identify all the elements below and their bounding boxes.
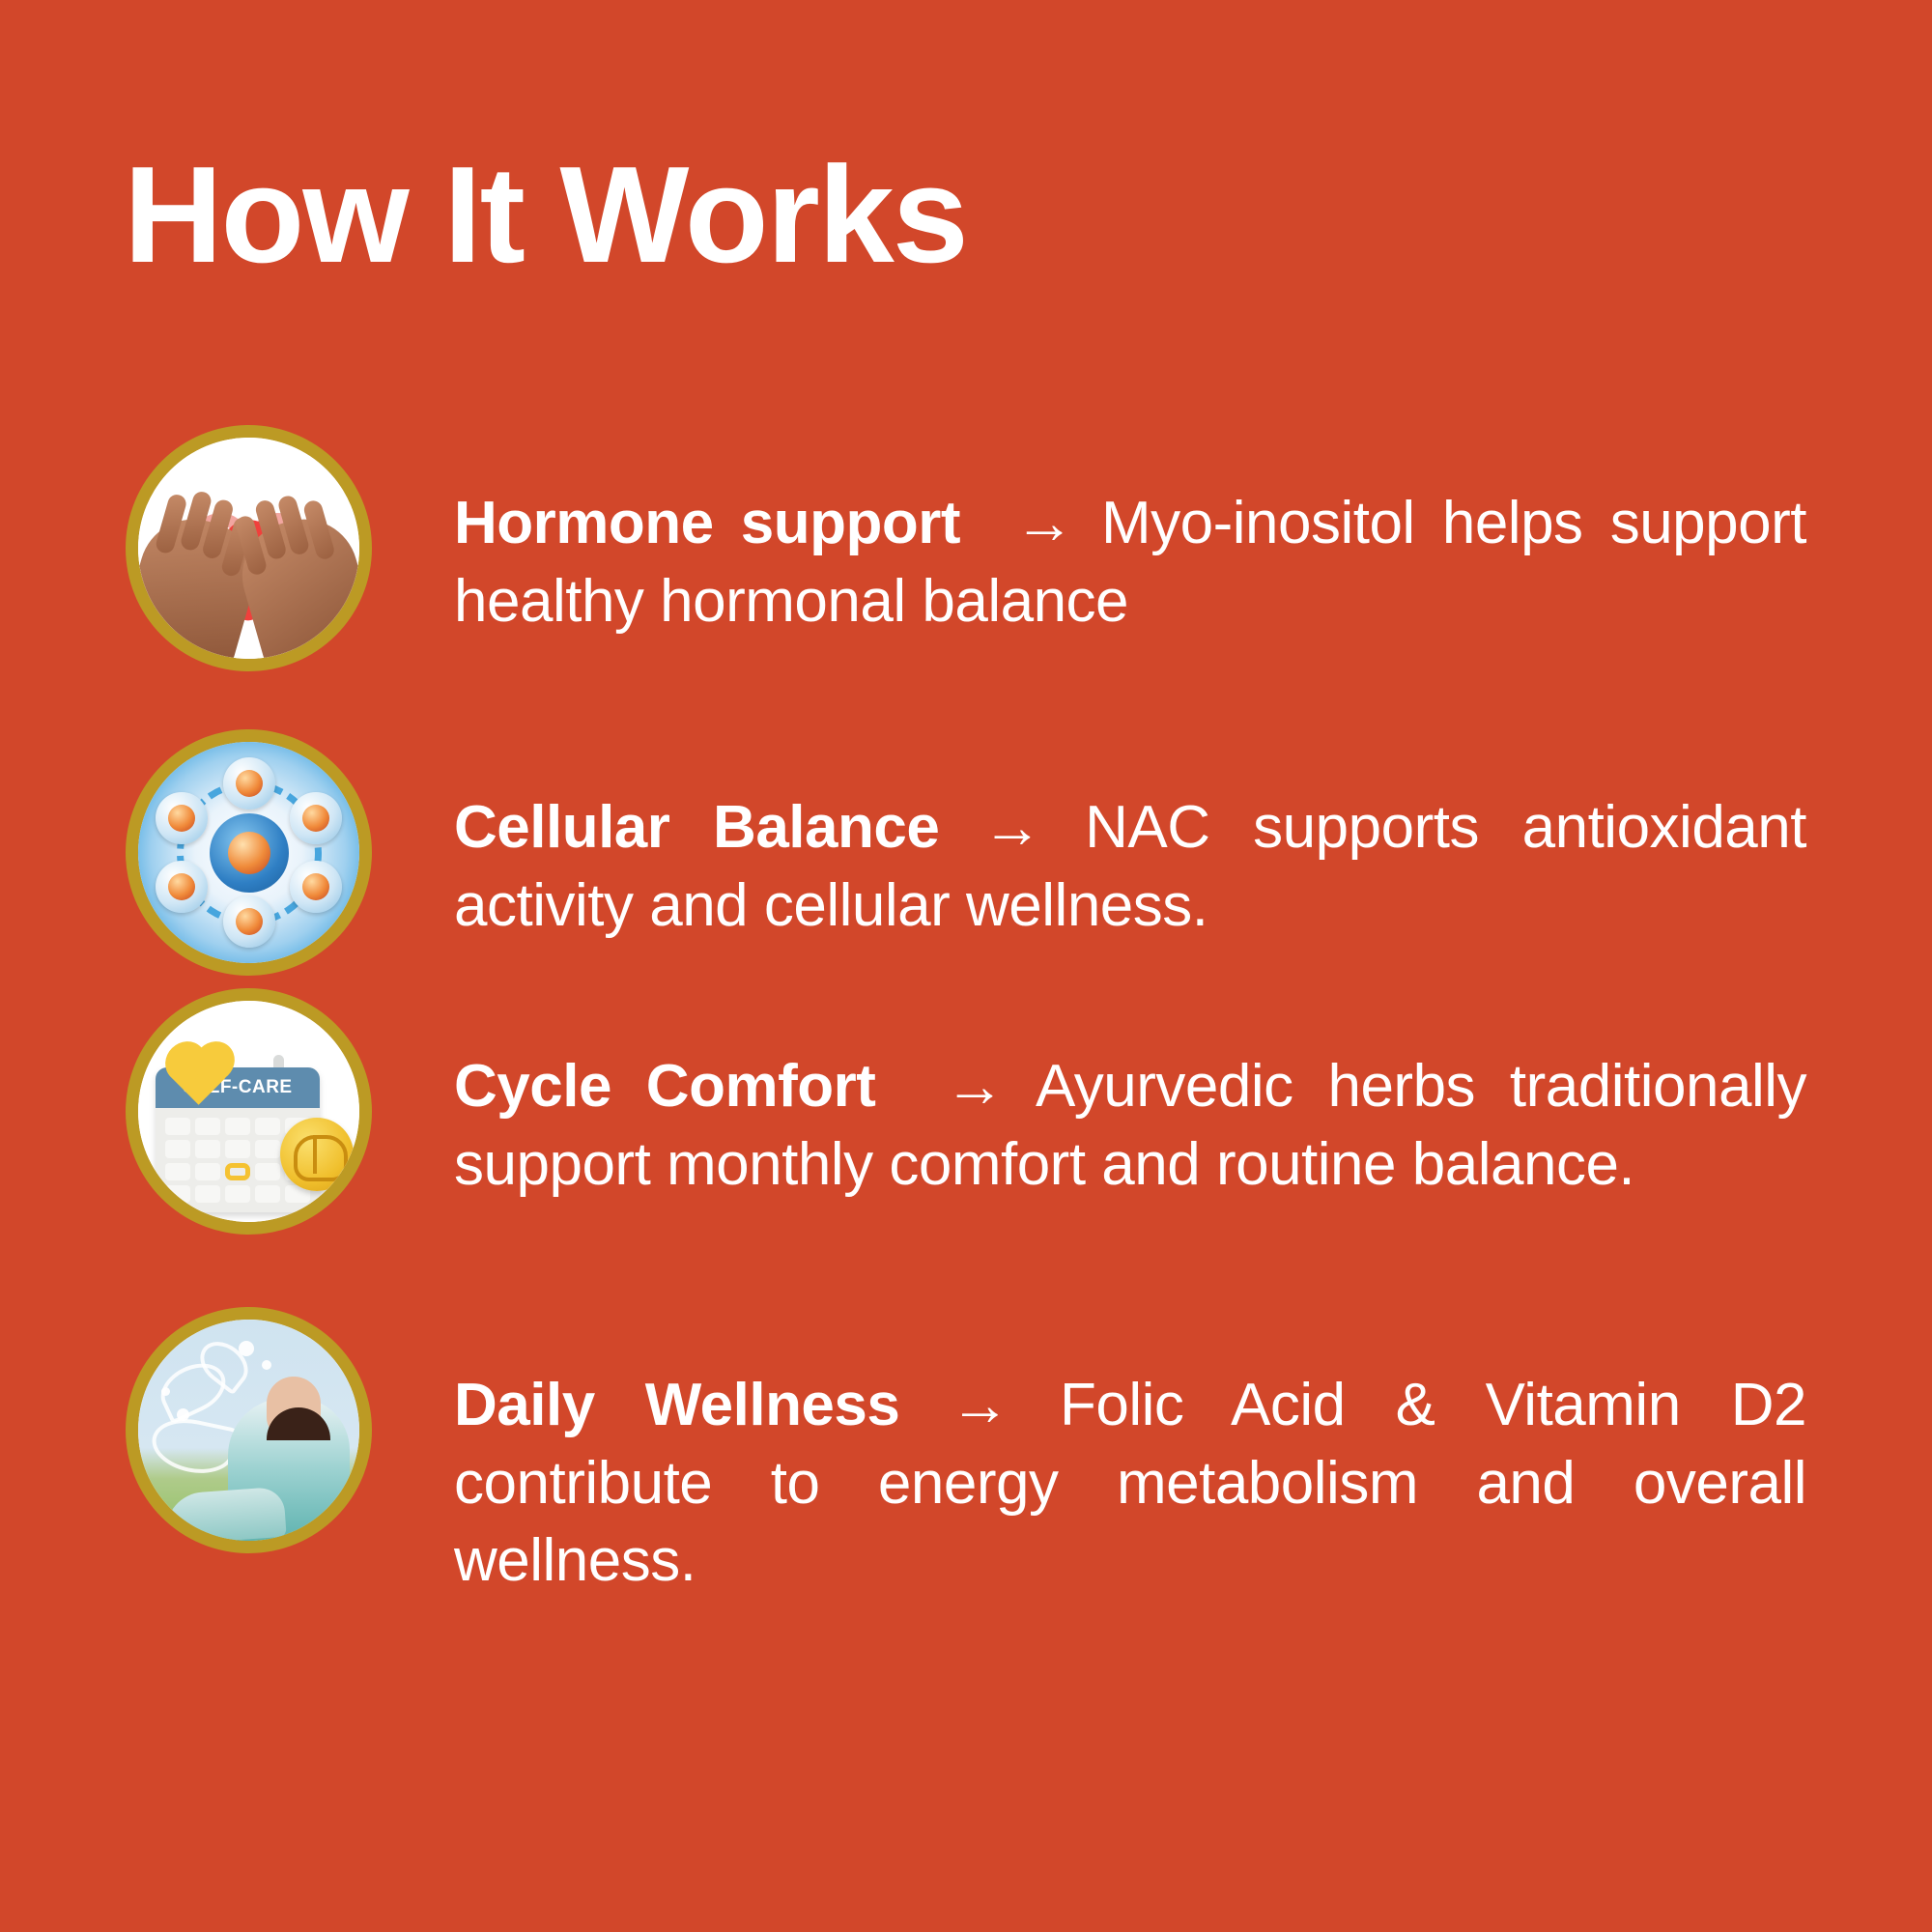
benefit-text-cellular-balance: Cellular Balance → NAC supports antioxid… <box>454 789 1806 945</box>
brain-icon <box>280 1118 354 1191</box>
benefit-text-cycle-comfort: Cycle Comfort → Ayurvedic herbs traditio… <box>454 1048 1806 1204</box>
hands-holding-uterus-icon <box>126 425 372 671</box>
cell <box>290 792 342 844</box>
benefit-text-hormone-support: Hormone support → Myo-inositol helps sup… <box>454 485 1806 640</box>
benefit-lead: Hormone support <box>454 490 960 556</box>
arrow-icon: → <box>1014 490 1074 556</box>
cell <box>156 792 208 844</box>
icon-disc-inner <box>138 438 359 659</box>
woman-leg <box>163 1487 286 1541</box>
arrow-icon: → <box>945 1053 1005 1120</box>
cell <box>290 861 342 913</box>
decorative-swirl <box>147 1412 239 1481</box>
benefit-text-daily-wellness: Daily Wellness → Folic Acid & Vitamin D2… <box>454 1367 1806 1601</box>
decorative-dot <box>262 1360 271 1370</box>
central-cell <box>210 813 289 893</box>
decorative-dot <box>239 1341 254 1356</box>
icon-disc-inner <box>138 742 359 963</box>
cell <box>223 757 275 810</box>
cell-cycle-illustration <box>138 742 359 963</box>
cell <box>223 895 275 948</box>
benefit-lead: Cellular Balance <box>454 794 939 861</box>
page-title: How It Works <box>124 147 967 284</box>
decorative-dot <box>161 1387 170 1396</box>
meditating-woman-icon <box>126 1307 372 1553</box>
icon-disc-inner <box>138 1320 359 1541</box>
icon-disc-inner: SELF-CARE <box>138 1001 359 1222</box>
arrow-icon: → <box>950 1372 1009 1438</box>
benefit-lead: Cycle Comfort <box>454 1053 875 1120</box>
hand-right <box>230 506 359 659</box>
uterus-illustration <box>138 438 359 659</box>
how-it-works-infographic: How It Works Hormone supp <box>0 0 1932 1932</box>
decorative-dot <box>177 1408 189 1421</box>
benefit-lead: Daily Wellness <box>454 1372 899 1438</box>
cell <box>156 861 208 913</box>
arrow-icon: → <box>982 794 1042 861</box>
meditation-illustration <box>138 1320 359 1541</box>
calendar-illustration: SELF-CARE <box>138 1001 359 1222</box>
self-care-calendar-icon: SELF-CARE <box>126 988 372 1235</box>
cell-division-cycle-icon <box>126 729 372 976</box>
